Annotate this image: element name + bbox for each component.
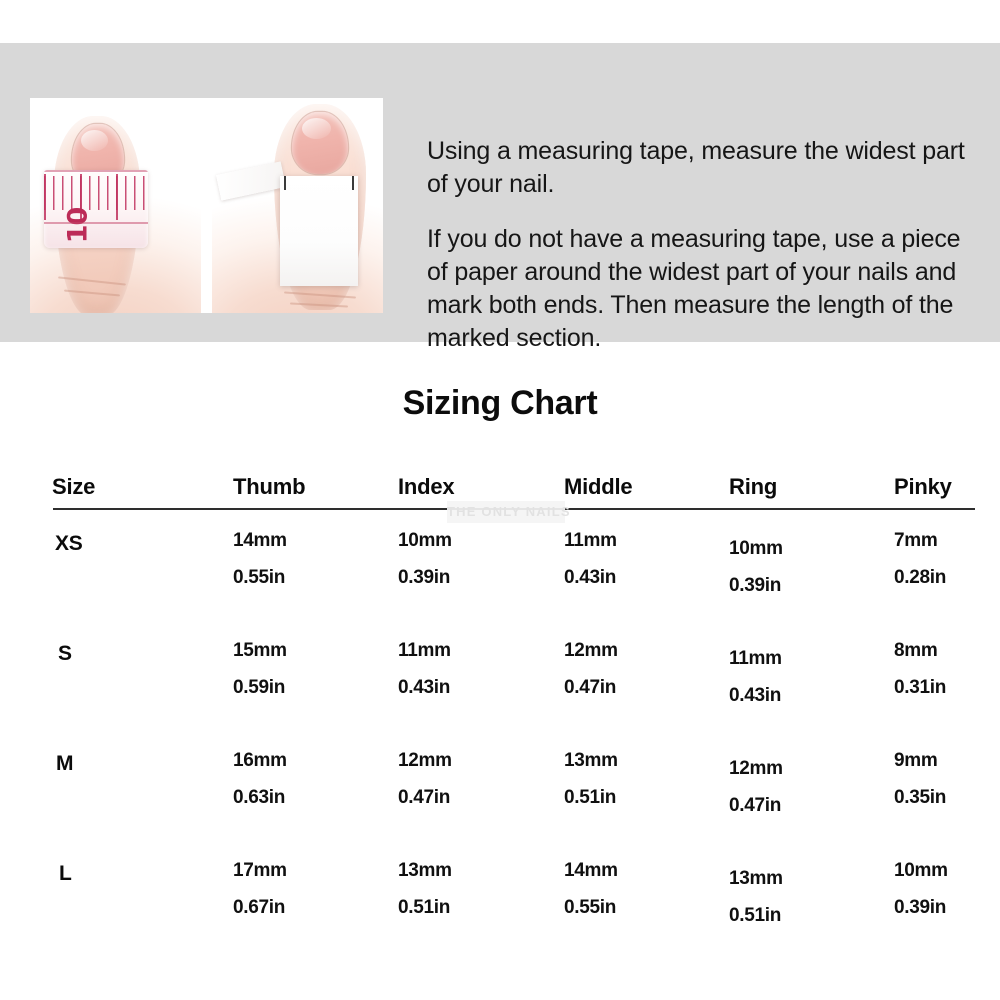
value-mm: 13mm <box>729 868 783 889</box>
value-in: 0.55in <box>564 897 618 919</box>
value-in: 0.43in <box>398 677 451 699</box>
value-in: 0.55in <box>233 567 287 589</box>
column-header-index: Index <box>398 474 454 500</box>
sizing-chart-page: 10 <box>0 0 1000 1000</box>
value-mm: 15mm <box>233 640 287 661</box>
table-cell-ring: 13mm 0.51in <box>729 868 783 927</box>
table-cell-pinky: 8mm 0.31in <box>894 640 946 699</box>
value-mm: 8mm <box>894 640 937 661</box>
value-in: 0.39in <box>894 897 948 919</box>
value-mm: 10mm <box>398 530 452 551</box>
instruction-paragraph-2: If you do not have a measuring tape, use… <box>427 223 979 355</box>
column-header-pinky: Pinky <box>894 474 952 500</box>
watermark: THE ONLY NAILS <box>447 501 565 523</box>
value-in: 0.47in <box>398 787 452 809</box>
table-cell-ring: 10mm 0.39in <box>729 538 783 597</box>
table-cell-thumb: 17mm 0.67in <box>233 860 287 919</box>
table-cell-pinky: 9mm 0.35in <box>894 750 946 809</box>
photo-panel-tape: 10 <box>30 98 201 313</box>
nail-highlight <box>302 118 331 139</box>
value-mm: 12mm <box>564 640 618 661</box>
value-mm: 14mm <box>233 530 287 551</box>
value-in: 0.39in <box>729 575 783 597</box>
value-mm: 9mm <box>894 750 937 771</box>
value-in: 0.35in <box>894 787 946 809</box>
value-mm: 12mm <box>729 758 783 779</box>
row-size-label: S <box>58 642 72 666</box>
value-mm: 11mm <box>564 530 617 551</box>
column-header-thumb: Thumb <box>233 474 305 500</box>
value-mm: 11mm <box>729 648 782 669</box>
measuring-tape: 10 <box>44 170 148 248</box>
value-in: 0.39in <box>398 567 452 589</box>
value-in: 0.43in <box>564 567 617 589</box>
column-header-ring: Ring <box>729 474 777 500</box>
table-cell-thumb: 14mm 0.55in <box>233 530 287 589</box>
table-cell-middle: 14mm 0.55in <box>564 860 618 919</box>
value-mm: 10mm <box>894 860 948 881</box>
photo-divider <box>201 98 212 313</box>
value-in: 0.43in <box>729 685 782 707</box>
paper-mark-right <box>352 176 354 190</box>
sizing-table: Size Thumb Index Middle Ring Pinky THE O… <box>0 462 1000 942</box>
value-mm: 11mm <box>398 640 451 661</box>
value-in: 0.28in <box>894 567 946 589</box>
value-in: 0.63in <box>233 787 287 809</box>
instruction-text-block: Using a measuring tape, measure the wide… <box>427 135 979 355</box>
table-cell-pinky: 10mm 0.39in <box>894 860 948 919</box>
value-in: 0.31in <box>894 677 946 699</box>
instruction-paragraph-1: Using a measuring tape, measure the wide… <box>427 135 979 201</box>
table-cell-index: 12mm 0.47in <box>398 750 452 809</box>
value-mm: 12mm <box>398 750 452 771</box>
table-cell-ring: 11mm 0.43in <box>729 648 782 707</box>
row-size-label: M <box>56 752 73 776</box>
table-cell-thumb: 16mm 0.63in <box>233 750 287 809</box>
value-mm: 10mm <box>729 538 783 559</box>
table-cell-middle: 13mm 0.51in <box>564 750 618 809</box>
value-mm: 14mm <box>564 860 618 881</box>
tape-major-ticks <box>44 174 148 220</box>
measuring-instruction-photo: 10 <box>30 98 383 313</box>
table-cell-index: 11mm 0.43in <box>398 640 451 699</box>
value-in: 0.59in <box>233 677 287 699</box>
table-cell-index: 10mm 0.39in <box>398 530 452 589</box>
table-cell-ring: 12mm 0.47in <box>729 758 783 817</box>
value-in: 0.51in <box>564 787 618 809</box>
value-mm: 17mm <box>233 860 287 881</box>
column-header-middle: Middle <box>564 474 632 500</box>
paper-strip <box>280 176 358 286</box>
table-cell-index: 13mm 0.51in <box>398 860 452 919</box>
table-cell-middle: 11mm 0.43in <box>564 530 617 589</box>
value-in: 0.51in <box>729 905 783 927</box>
row-size-label: XS <box>55 532 83 556</box>
table-cell-middle: 12mm 0.47in <box>564 640 618 699</box>
paper-mark-left <box>284 176 286 190</box>
chart-title: Sizing Chart <box>0 384 1000 423</box>
value-in: 0.67in <box>233 897 287 919</box>
photo-panel-paper <box>212 98 383 313</box>
value-mm: 7mm <box>894 530 937 551</box>
fingernail-shape <box>292 112 348 174</box>
column-header-size: Size <box>52 474 95 500</box>
tape-number-label: 10 <box>62 208 93 244</box>
nail-highlight <box>81 130 108 151</box>
value-mm: 13mm <box>398 860 452 881</box>
table-cell-thumb: 15mm 0.59in <box>233 640 287 699</box>
value-mm: 13mm <box>564 750 618 771</box>
instruction-band: 10 <box>0 43 1000 342</box>
value-mm: 16mm <box>233 750 287 771</box>
value-in: 0.47in <box>564 677 618 699</box>
row-size-label: L <box>59 862 72 886</box>
table-cell-pinky: 7mm 0.28in <box>894 530 946 589</box>
value-in: 0.47in <box>729 795 783 817</box>
value-in: 0.51in <box>398 897 452 919</box>
